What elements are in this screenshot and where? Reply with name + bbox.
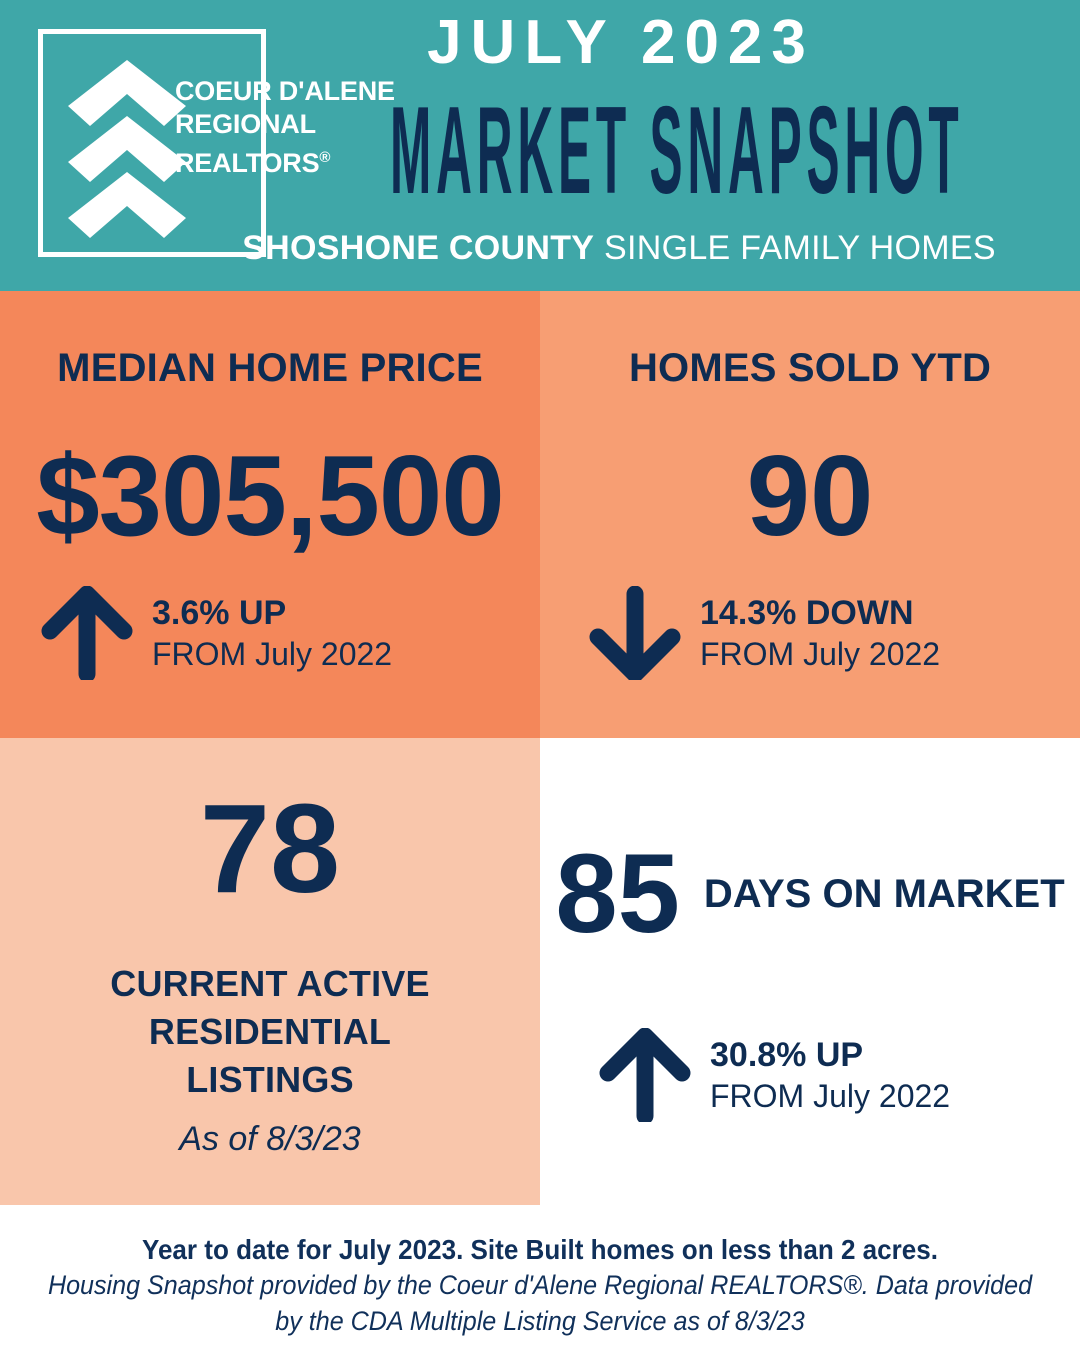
arrow-down-icon [588,586,682,680]
footer-italic-line-1: Housing Snapshot provided by the Coeur d… [38,1267,1042,1303]
homes-sold-ytd-value: 90 [540,440,1080,554]
arrow-up-icon [40,586,134,680]
active-listings-as-of: As of 8/3/23 [0,1120,540,1159]
median-home-price-change-pct: 3.6% UP [152,592,392,634]
days-on-market-change-from: FROM July 2022 [710,1076,950,1116]
footer-italic-line-2: by the CDA Multiple Listing Service as o… [38,1303,1042,1339]
days-on-market-headline: 85 DAYS ON MARKET [540,838,1080,950]
days-on-market-change: 30.8% UP FROM July 2022 [598,1028,950,1122]
homes-sold-ytd-change-pct: 14.3% DOWN [700,592,940,634]
homes-sold-ytd-change-text: 14.3% DOWN FROM July 2022 [700,592,940,674]
subtitle-property-type: SINGLE FAMILY HOMES [594,229,996,267]
infographic-page: COEUR D'ALENE REGIONAL REALTORS® JULY 20… [0,0,1080,1350]
triple-chevron-up-icon [68,60,188,238]
days-on-market-value: 85 [555,838,680,950]
median-home-price-label: MEDIAN HOME PRICE [0,345,540,391]
footer-bold-line: Year to date for July 2023. Site Built h… [38,1233,1042,1267]
footer: Year to date for July 2023. Site Built h… [0,1205,1080,1350]
homes-sold-ytd-card: HOMES SOLD YTD 90 14.3% DOWN FROM July 2… [540,291,1080,738]
median-home-price-card: MEDIAN HOME PRICE $305,500 3.6% UP FROM … [0,291,540,738]
median-home-price-change-from: FROM July 2022 [152,634,392,674]
homes-sold-ytd-label: HOMES SOLD YTD [540,345,1080,391]
median-home-price-change-text: 3.6% UP FROM July 2022 [152,592,392,674]
days-on-market-change-pct: 30.8% UP [710,1034,950,1076]
homes-sold-ytd-change: 14.3% DOWN FROM July 2022 [588,586,940,680]
active-listings-label: CURRENT ACTIVE RESIDENTIAL LISTINGS [0,960,540,1104]
page-title: MARKET SNAPSHOT [318,92,742,210]
median-home-price-value: $305,500 [0,440,540,554]
days-on-market-change-text: 30.8% UP FROM July 2022 [710,1034,950,1116]
subtitle-county: SHOSHONE COUNTY [242,229,594,267]
active-listings-value: 78 [0,786,540,912]
arrow-up-icon [598,1028,692,1122]
active-listings-card: 78 CURRENT ACTIVE RESIDENTIAL LISTINGS A… [0,738,540,1205]
days-on-market-caption: DAYS ON MARKET [704,871,1065,917]
header-banner: COEUR D'ALENE REGIONAL REALTORS® JULY 20… [0,0,1080,291]
median-home-price-change: 3.6% UP FROM July 2022 [40,586,392,680]
homes-sold-ytd-change-from: FROM July 2022 [700,634,940,674]
month-title: JULY 2023 [0,8,1062,78]
days-on-market-card: 85 DAYS ON MARKET 30.8% UP FROM July 202… [540,738,1080,1205]
subtitle: SHOSHONE COUNTY SINGLE FAMILY HOMES [0,228,1058,268]
